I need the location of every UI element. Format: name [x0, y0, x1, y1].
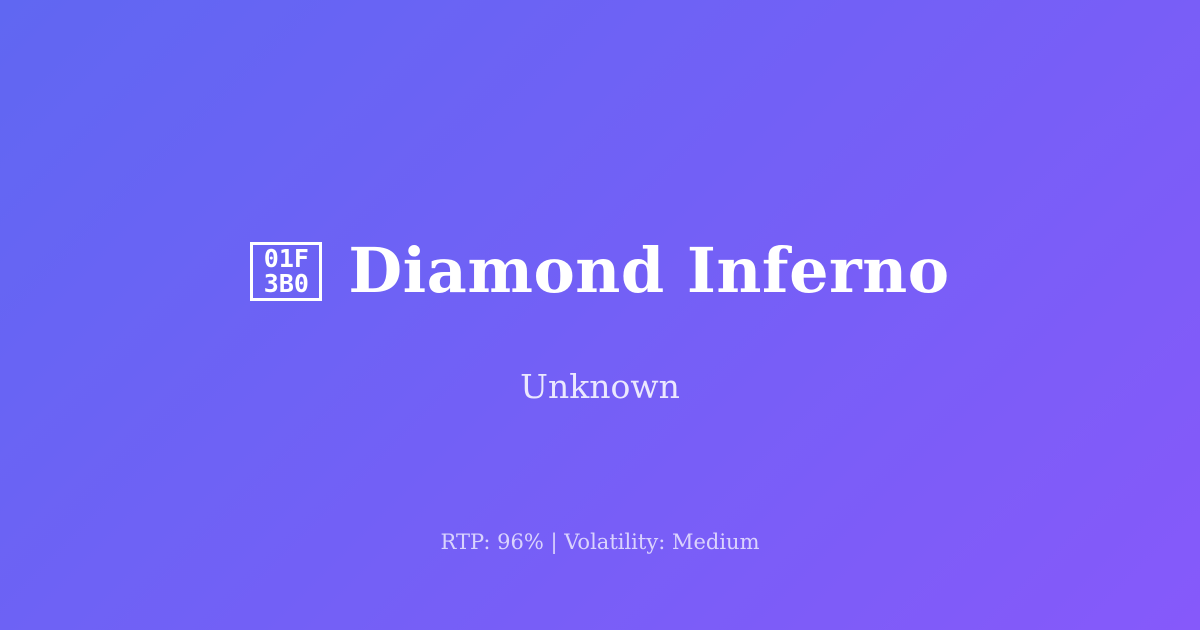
title-row: 01F 3B0 Diamond Inferno: [0, 236, 1200, 306]
slot-machine-icon-codepoint-top: 01F: [264, 246, 309, 271]
game-preview-card: 01F 3B0 Diamond Inferno Unknown RTP: 96%…: [0, 0, 1200, 630]
slot-machine-icon-codepoint-bottom: 3B0: [264, 271, 309, 296]
game-title: Diamond Inferno: [348, 236, 949, 306]
game-provider: Unknown: [0, 366, 1200, 408]
game-stats: RTP: 96% | Volatility: Medium: [0, 528, 1200, 556]
slot-machine-icon: 01F 3B0: [250, 242, 322, 301]
